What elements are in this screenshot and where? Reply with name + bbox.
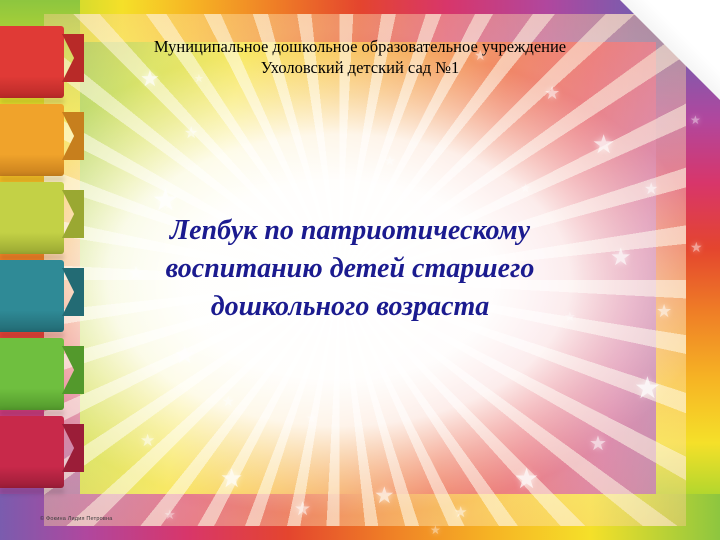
organization-line-2: Ухоловский детский сад №1: [60, 57, 660, 78]
author-credit: © Фокина Лидия Петровна: [40, 516, 112, 522]
presentation-slide: ★★★★★★★★★★★★★★★★★★★★★★★★★★★★★★ Муниципал…: [0, 0, 720, 540]
ribbon-crimson-tail: [62, 424, 84, 472]
page-title-line-2: воспитанию детей старшего: [70, 250, 630, 288]
ribbon-green-body: [0, 338, 64, 410]
ribbon-crimson-shadow: [0, 488, 64, 494]
ribbon-orange: [0, 104, 84, 176]
ribbon-crimson-body: [0, 416, 64, 488]
organization-line-1: Муниципальное дошкольное образовательное…: [60, 36, 660, 57]
ribbon-orange-body: [0, 104, 64, 176]
ribbon-orange-tail: [62, 112, 84, 160]
page-title-line-1: Лепбук по патриотическому: [70, 212, 630, 250]
ribbon-green-tail: [62, 346, 84, 394]
ribbon-yellow-green-body: [0, 182, 64, 254]
organization-heading: Муниципальное дошкольное образовательное…: [60, 36, 660, 78]
page-title-line-3: дошкольного возраста: [70, 288, 630, 326]
ribbon-crimson: [0, 416, 84, 488]
ribbon-red-body: [0, 26, 64, 98]
ribbon-green: [0, 338, 84, 410]
page-title: Лепбук по патриотическому воспитанию дет…: [70, 212, 630, 326]
ribbon-teal-body: [0, 260, 64, 332]
